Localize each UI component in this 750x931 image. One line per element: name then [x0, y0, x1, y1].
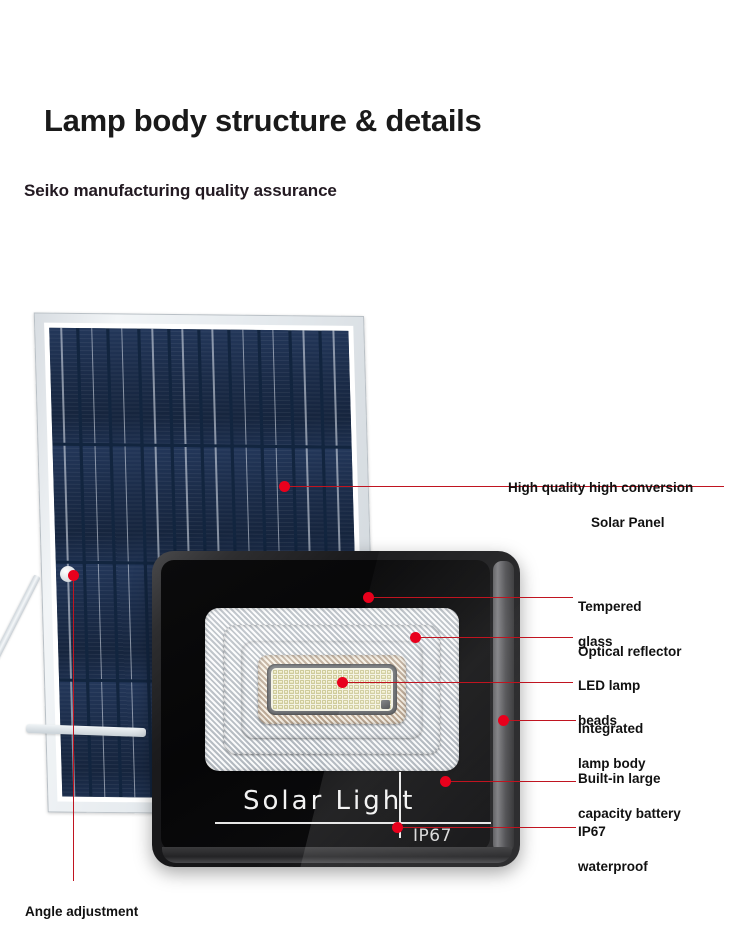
led-bead — [376, 670, 380, 674]
led-bead — [333, 700, 337, 704]
led-bead — [354, 705, 358, 709]
callout-label-integrated-lamp-body-line1: Integrated — [578, 721, 643, 736]
led-bead — [316, 685, 320, 689]
solar-cell — [120, 682, 150, 797]
callout-line-angle-adjustment — [73, 578, 74, 881]
led-bead — [273, 690, 277, 694]
solar-cell — [140, 329, 170, 444]
led-bead — [284, 695, 288, 699]
led-bead — [278, 690, 282, 694]
led-bead — [349, 675, 353, 679]
led-bead — [305, 690, 309, 694]
led-bead — [327, 675, 331, 679]
led-bead — [387, 690, 391, 694]
callout-dot-integrated-lamp-body — [498, 715, 509, 726]
solar-cell — [79, 328, 109, 443]
led-bead — [343, 670, 347, 674]
infographic-stage: Lamp body structure & details Seiko manu… — [0, 0, 750, 931]
led-bead — [354, 670, 358, 674]
ip67-mark: IP67 — [413, 826, 452, 846]
led-bead — [376, 700, 380, 704]
led-bead — [381, 685, 385, 689]
led-bead — [300, 670, 304, 674]
led-bead — [376, 675, 380, 679]
led-bead — [360, 690, 364, 694]
solar-cell — [49, 328, 79, 443]
callout-label-solar-panel-line1: High quality high conversion — [508, 480, 693, 495]
solar-cell — [52, 446, 82, 561]
solar-cell — [291, 330, 321, 445]
led-bead — [327, 690, 331, 694]
led-bead — [381, 675, 385, 679]
led-bead — [381, 695, 385, 699]
optical-reflector — [205, 608, 459, 771]
led-bead — [354, 695, 358, 699]
lamp-face: Solar Light IP67 — [161, 560, 490, 851]
led-bead — [381, 670, 385, 674]
led-bead — [327, 680, 331, 684]
led-bead — [305, 675, 309, 679]
led-bead — [370, 705, 374, 709]
callout-dot-tempered-glass — [363, 592, 374, 603]
led-bead — [360, 685, 364, 689]
led-bead — [349, 685, 353, 689]
led-bead — [316, 670, 320, 674]
led-bead — [343, 690, 347, 694]
led-bead — [295, 675, 299, 679]
led-bead — [349, 700, 353, 704]
solar-cell — [204, 447, 234, 562]
led-bead — [300, 685, 304, 689]
callout-label-tempered-glass-line1: Tempered — [578, 599, 642, 614]
callout-line-led-lamp-beads — [343, 682, 573, 683]
led-bead — [295, 690, 299, 694]
led-bead — [316, 695, 320, 699]
callout-line-built-in-battery — [446, 781, 576, 782]
led-bead — [316, 705, 320, 709]
callout-dot-solar-panel — [279, 481, 290, 492]
led-bead — [322, 680, 326, 684]
callout-label-solar-panel: High quality high conversion Solar Panel — [508, 462, 693, 531]
brand-underline — [215, 822, 491, 824]
led-bead — [295, 685, 299, 689]
led-bead — [333, 675, 337, 679]
led-bead — [289, 695, 293, 699]
solar-cell — [173, 447, 203, 562]
lamp-bottom-rim — [162, 847, 512, 863]
led-bead — [387, 685, 391, 689]
led-bead — [327, 695, 331, 699]
led-bead — [338, 705, 342, 709]
solar-cell — [170, 329, 200, 444]
led-bead — [316, 690, 320, 694]
solar-cell — [261, 330, 291, 445]
solar-cell — [83, 446, 113, 561]
led-bead — [305, 680, 309, 684]
led-bead — [360, 695, 364, 699]
led-bead — [289, 670, 293, 674]
led-bead — [284, 670, 288, 674]
page-title: Lamp body structure & details — [44, 103, 481, 139]
led-bead — [354, 700, 358, 704]
led-bead — [322, 690, 326, 694]
led-bead — [300, 700, 304, 704]
callout-label-solar-panel-line2: Solar Panel — [591, 514, 665, 531]
callout-label-angle-adjustment: Angle adjustment — [25, 886, 138, 921]
led-bead — [273, 675, 277, 679]
callout-label-ip67-waterproof: IP67 waterproof — [578, 806, 648, 875]
led-bead — [278, 680, 282, 684]
led-bead — [354, 675, 358, 679]
solar-cell — [321, 331, 351, 446]
led-bead — [273, 680, 277, 684]
led-module — [267, 664, 397, 715]
callout-dot-led-lamp-beads — [337, 677, 348, 688]
led-bead — [370, 675, 374, 679]
led-bead — [311, 670, 315, 674]
solar-cell — [113, 446, 143, 561]
led-bead — [370, 670, 374, 674]
panel-kickstand-strut — [0, 574, 41, 738]
led-bead — [273, 700, 277, 704]
led-bead — [284, 675, 288, 679]
led-bead — [370, 685, 374, 689]
led-bead — [327, 670, 331, 674]
callout-dot-ip67-waterproof — [392, 822, 403, 833]
led-bead — [365, 690, 369, 694]
led-bead-array — [271, 668, 393, 711]
led-bead — [305, 700, 309, 704]
led-bead — [295, 700, 299, 704]
led-bead — [311, 700, 315, 704]
led-bead — [278, 705, 282, 709]
led-bead — [305, 670, 309, 674]
led-bead — [295, 680, 299, 684]
callout-line-tempered-glass — [369, 597, 573, 598]
led-bead — [322, 695, 326, 699]
led-bead — [278, 685, 282, 689]
solar-cell — [86, 564, 116, 679]
led-bead — [322, 675, 326, 679]
callout-label-angle-adjustment-line1: Angle adjustment — [25, 904, 138, 919]
solar-cell — [264, 448, 294, 563]
led-bead — [327, 685, 331, 689]
led-bead — [295, 705, 299, 709]
led-bead — [273, 705, 277, 709]
led-bead — [338, 690, 342, 694]
led-bead — [365, 695, 369, 699]
callout-label-built-in-battery-line1: Built-in large — [578, 771, 661, 786]
solar-cell — [231, 330, 261, 445]
led-bead — [311, 695, 315, 699]
page-subtitle: Seiko manufacturing quality assurance — [24, 181, 337, 201]
led-bead — [284, 685, 288, 689]
led-bead — [311, 680, 315, 684]
callout-label-led-lamp-beads-line1: LED lamp — [578, 678, 640, 693]
led-bead — [365, 705, 369, 709]
lamp-head: Solar Light IP67 — [152, 551, 520, 867]
callout-dot-built-in-battery — [440, 776, 451, 787]
callout-line-ip67-waterproof — [398, 827, 576, 828]
led-bead — [343, 700, 347, 704]
callout-label-ip67-waterproof-line1: IP67 — [578, 824, 606, 839]
led-bead — [300, 705, 304, 709]
callout-label-optical-reflector: Optical reflector — [578, 626, 682, 661]
led-bead — [278, 700, 282, 704]
solar-cell — [234, 448, 264, 563]
led-bead — [365, 670, 369, 674]
solar-cell — [89, 682, 119, 797]
led-bead — [289, 705, 293, 709]
led-bead — [278, 695, 282, 699]
led-bead — [376, 705, 380, 709]
led-bead — [305, 695, 309, 699]
led-bead — [295, 670, 299, 674]
led-bead — [365, 700, 369, 704]
led-bead — [343, 695, 347, 699]
brand-label: Solar Light — [243, 786, 415, 816]
led-bead — [311, 705, 315, 709]
led-bead — [300, 695, 304, 699]
callout-dot-optical-reflector — [410, 632, 421, 643]
callout-label-ip67-waterproof-line2: waterproof — [578, 859, 648, 874]
callout-line-integrated-lamp-body — [504, 720, 576, 721]
led-bead — [273, 695, 277, 699]
led-bead — [333, 705, 337, 709]
led-bead — [289, 690, 293, 694]
led-bead — [273, 685, 277, 689]
led-bead — [333, 690, 337, 694]
led-bead — [284, 690, 288, 694]
led-bead — [322, 705, 326, 709]
led-bead — [322, 685, 326, 689]
led-bead — [289, 700, 293, 704]
led-bead — [289, 675, 293, 679]
solar-cell — [116, 564, 146, 679]
led-bead — [278, 670, 282, 674]
led-bead — [349, 695, 353, 699]
callout-dot-angle-adjustment — [68, 570, 79, 581]
led-bead — [349, 690, 353, 694]
led-bead — [376, 690, 380, 694]
led-bead — [316, 680, 320, 684]
led-bead — [354, 685, 358, 689]
led-bead — [370, 700, 374, 704]
solar-cell — [294, 448, 324, 563]
led-bead — [333, 695, 337, 699]
led-bead — [284, 680, 288, 684]
led-bead — [338, 695, 342, 699]
solar-cell — [324, 448, 354, 563]
led-bead — [381, 690, 385, 694]
light-sensor-icon — [381, 700, 390, 709]
led-bead — [360, 675, 364, 679]
led-bead — [343, 705, 347, 709]
lamp-side-edge — [493, 561, 514, 853]
led-bead — [311, 675, 315, 679]
led-bead — [338, 700, 342, 704]
led-bead — [370, 690, 374, 694]
led-bead — [311, 685, 315, 689]
led-bead — [349, 670, 353, 674]
led-bead — [305, 685, 309, 689]
callout-line-optical-reflector — [416, 637, 573, 638]
led-bead — [333, 685, 337, 689]
led-bead — [387, 695, 391, 699]
led-bead — [305, 705, 309, 709]
led-bead — [295, 695, 299, 699]
led-bead — [273, 670, 277, 674]
led-bead — [300, 680, 304, 684]
led-bead — [387, 670, 391, 674]
led-bead — [311, 690, 315, 694]
led-bead — [354, 690, 358, 694]
led-bead — [360, 670, 364, 674]
led-bead — [376, 685, 380, 689]
led-bead — [300, 675, 304, 679]
led-bead — [278, 675, 282, 679]
led-bead — [376, 695, 380, 699]
led-bead — [360, 705, 364, 709]
solar-cell — [200, 329, 230, 444]
led-bead — [338, 670, 342, 674]
callout-label-optical-reflector-line1: Optical reflector — [578, 644, 682, 659]
led-bead — [284, 705, 288, 709]
led-bead — [322, 700, 326, 704]
led-bead — [365, 675, 369, 679]
led-bead — [289, 685, 293, 689]
solar-cell — [110, 328, 140, 443]
led-bead — [333, 670, 337, 674]
led-bead — [327, 700, 331, 704]
solar-cell — [143, 447, 173, 562]
led-bead — [300, 690, 304, 694]
led-bead — [349, 705, 353, 709]
led-bead — [387, 675, 391, 679]
led-bead — [322, 670, 326, 674]
led-bead — [284, 700, 288, 704]
led-bead — [289, 680, 293, 684]
led-bead — [365, 685, 369, 689]
led-bead — [327, 705, 331, 709]
led-bead — [360, 700, 364, 704]
led-bead — [370, 695, 374, 699]
led-bead — [316, 675, 320, 679]
led-bead — [316, 700, 320, 704]
